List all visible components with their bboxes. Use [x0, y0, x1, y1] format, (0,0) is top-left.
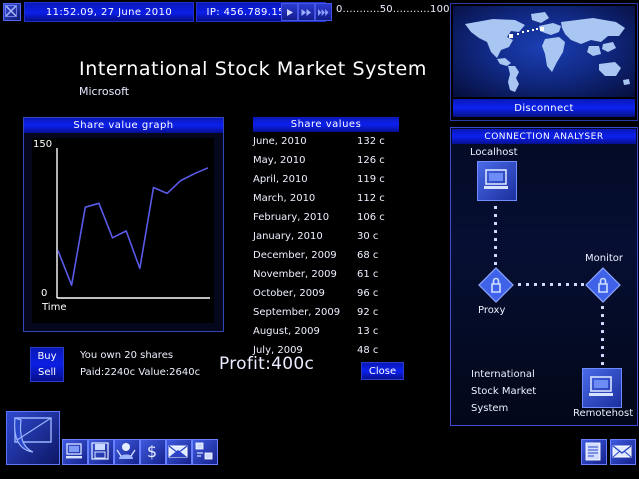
computer-icon[interactable] — [582, 368, 622, 408]
chart-ymin-label: 0 — [41, 288, 47, 299]
chart-xaxis-label: Time — [42, 302, 66, 313]
table-row: June, 2010132 c — [253, 132, 399, 151]
share-period: May, 2010 — [253, 155, 357, 166]
speed-play-button[interactable] — [281, 3, 298, 21]
share-values-header: Share values — [253, 117, 399, 132]
share-value: 30 c — [357, 231, 378, 242]
share-period: March, 2010 — [253, 193, 357, 204]
table-row: November, 200961 c — [253, 265, 399, 284]
remotehost-label: Remotehost — [573, 408, 633, 419]
table-row: May, 2010126 c — [253, 151, 399, 170]
table-row: September, 200992 c — [253, 303, 399, 322]
speed-fastest-button[interactable] — [315, 3, 332, 21]
speed-fast-forward-button[interactable] — [298, 3, 315, 21]
share-value: 13 c — [357, 326, 378, 337]
system-clock: 11:52.09, 27 June 2010 — [24, 2, 194, 22]
share-values-rows: June, 2010132 cMay, 2010126 cApril, 2010… — [253, 132, 399, 360]
profit-label: Profit:400c — [219, 354, 314, 374]
chart-ymax-label: 150 — [33, 139, 52, 150]
table-row: April, 2010119 c — [253, 170, 399, 189]
localhost-label: Localhost — [470, 147, 518, 158]
paid-value-label: Paid:2240c Value:2640c — [80, 367, 200, 378]
table-row: February, 2010106 c — [253, 208, 399, 227]
link-dots-proxy-monitor — [517, 283, 585, 287]
computer-icon[interactable] — [477, 161, 517, 201]
share-value-chart: 150 0 Time — [32, 138, 214, 323]
status-people-icon[interactable] — [114, 439, 140, 465]
graph-panel-header: Share value graph — [24, 118, 223, 133]
share-value: 126 c — [357, 155, 385, 166]
finance-dollar-icon[interactable]: $ — [140, 439, 166, 465]
share-value: 112 c — [357, 193, 385, 204]
share-value: 61 c — [357, 269, 378, 280]
table-row: December, 200968 c — [253, 246, 399, 265]
share-values-table: Share values June, 2010132 cMay, 2010126… — [253, 117, 399, 337]
share-period: November, 2009 — [253, 269, 357, 280]
email-envelope-icon[interactable] — [166, 439, 192, 465]
share-period: January, 2010 — [253, 231, 357, 242]
lock-icon[interactable] — [585, 267, 621, 303]
share-value: 96 c — [357, 288, 378, 299]
hardware-computer-icon[interactable] — [62, 439, 88, 465]
uplink-desktop: 11:52.09, 27 June 2010 IP: 456.789.159.4… — [0, 0, 639, 479]
links-network-icon[interactable] — [192, 439, 218, 465]
share-value: 92 c — [357, 307, 378, 318]
table-row: October, 200996 c — [253, 284, 399, 303]
share-period: February, 2010 — [253, 212, 357, 223]
file-document-icon[interactable] — [581, 439, 607, 465]
page-title: International Stock Market System — [79, 58, 427, 80]
buy-sell-group: Buy Sell — [30, 347, 64, 382]
target-name-line-1: International — [471, 366, 535, 383]
shares-owned-label: You own 20 shares — [80, 350, 173, 361]
connection-analyser-header: CONNECTION ANALYSER — [452, 129, 636, 144]
target-name-line-3: System — [471, 400, 508, 417]
monitor-label: Monitor — [585, 253, 623, 264]
top-status-bar: 11:52.09, 27 June 2010 IP: 456.789.159.4… — [0, 0, 448, 22]
satellite-dish-icon[interactable] — [6, 411, 60, 465]
memory-disk-icon[interactable] — [88, 439, 114, 465]
share-value-graph-panel: Share value graph 150 0 Time — [23, 117, 224, 332]
share-value: 106 c — [357, 212, 385, 223]
link-dots-monitor-remotehost — [601, 304, 605, 366]
link-dots-localhost-proxy — [494, 204, 498, 266]
mail-envelope-icon[interactable] — [610, 439, 636, 465]
disconnect-button[interactable]: Disconnect — [453, 99, 635, 117]
table-row: March, 2010112 c — [253, 189, 399, 208]
world-map-icon[interactable] — [453, 6, 635, 97]
share-value: 119 c — [357, 174, 385, 185]
table-row: August, 200913 c — [253, 322, 399, 341]
uplink-logo-icon[interactable] — [3, 3, 21, 21]
share-period: December, 2009 — [253, 250, 357, 261]
share-period: April, 2010 — [253, 174, 357, 185]
share-period: September, 2009 — [253, 307, 357, 318]
connection-analyser-panel: CONNECTION ANALYSER Localhost — [450, 127, 638, 426]
close-button[interactable]: Close — [361, 362, 404, 380]
world-map-panel: Disconnect — [450, 3, 638, 121]
speed-scale-label: 0...........50...........100 — [336, 4, 450, 15]
share-period: June, 2010 — [253, 136, 357, 147]
sell-button[interactable]: Sell — [31, 364, 63, 380]
page-subtitle: Microsoft — [79, 85, 129, 98]
lock-icon[interactable] — [478, 267, 514, 303]
share-period: October, 2009 — [253, 288, 357, 299]
share-value: 68 c — [357, 250, 378, 261]
table-row: January, 201030 c — [253, 227, 399, 246]
target-name-line-2: Stock Market — [471, 383, 536, 400]
svg-text:$: $ — [147, 442, 157, 461]
proxy-label: Proxy — [478, 305, 505, 316]
share-value: 48 c — [357, 345, 378, 356]
share-period: August, 2009 — [253, 326, 357, 337]
share-value: 132 c — [357, 136, 385, 147]
buy-button[interactable]: Buy — [31, 348, 63, 364]
